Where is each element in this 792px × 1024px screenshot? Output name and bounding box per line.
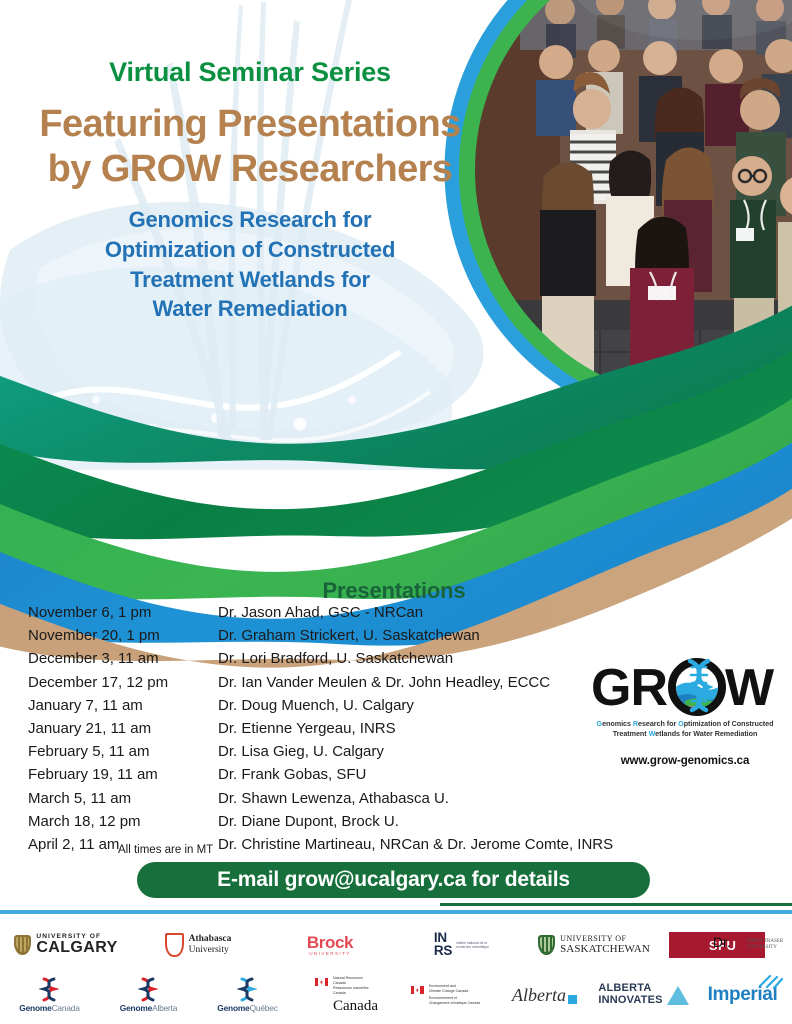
divider-blue — [0, 910, 792, 914]
presentation-row: November 20, 1 pmDr. Graham Strickert, U… — [28, 627, 668, 650]
calgary-shield-icon — [14, 935, 31, 955]
main-title: Featuring Presentations by GROW Research… — [0, 102, 500, 192]
sponsor-row-2: GenomeCanada GenomeAlberta GenomeQuébec — [0, 970, 792, 1020]
nrcan-canada-wordmark: Canada — [333, 999, 378, 1014]
project-subtitle: Genomics Research for Optimization of Co… — [0, 205, 500, 324]
inrs-line-2: RS — [434, 945, 452, 958]
presentation-speaker: Dr. Doug Muench, U. Calgary — [218, 697, 414, 714]
timezone-note: All times are in MT — [118, 844, 213, 856]
subtitle-line-3: Treatment Wetlands for — [0, 265, 500, 295]
presentation-speaker: Dr. Jason Ahad, GSC - NRCan — [218, 604, 423, 621]
grow-website-url[interactable]: www.grow-genomics.ca — [585, 755, 785, 767]
grow-tag-etlands: etlands for Water Remediation — [655, 729, 757, 738]
grow-tagline: Genomics Research for Optimization of Co… — [585, 719, 785, 739]
presentation-row: November 6, 1 pmDr. Jason Ahad, GSC - NR… — [28, 604, 668, 627]
presentation-row: March 18, 12 pmDr. Diane Dupont, Brock U… — [28, 813, 668, 836]
imperial-spark-icon — [757, 974, 783, 990]
alberta-innovates-line-2: INNOVATES — [598, 995, 662, 1007]
main-title-line-2: by GROW Researchers — [0, 147, 500, 192]
divider-green — [440, 903, 792, 906]
athabasca-line-1: Athabasca — [189, 934, 232, 945]
presentation-row: February 19, 11 amDr. Frank Gobas, SFU — [28, 766, 668, 789]
presentation-speaker: Dr. Lori Bradford, U. Saskatchewan — [218, 650, 453, 667]
presentation-speaker: Dr. Shawn Lewenza, Athabasca U. — [218, 790, 449, 807]
presentation-date: December 3, 11 am — [28, 650, 218, 667]
presentation-speaker: Dr. Ian Vander Meulen & Dr. John Headley… — [218, 674, 550, 691]
athabasca-line-2: University — [189, 945, 232, 956]
subtitle-line-1: Genomics Research for — [0, 205, 500, 235]
sponsor-government-of-alberta: Alberta — [495, 972, 594, 1018]
sfu-overlay-artifact: Dr. — [713, 934, 731, 950]
kicker-text: Virtual Seminar Series — [0, 58, 500, 88]
sponsor-environment-climate-change-canada: Environment and Climate Change Canada En… — [396, 972, 495, 1018]
grow-tagline-line-1: Genomics Research for Optimization of Co… — [585, 719, 785, 729]
genome-alberta-helix-icon — [138, 977, 158, 1002]
presentation-date: December 17, 12 pm — [28, 674, 218, 691]
presentation-speaker: Dr. Etienne Yergeau, INRS — [218, 720, 396, 737]
subtitle-line-2: Optimization of Constructed — [0, 235, 500, 265]
alberta-square-icon — [568, 995, 577, 1004]
main-title-line-1: Featuring Presentations — [0, 102, 500, 147]
header-block: Virtual Seminar Series Featuring Present… — [0, 58, 500, 324]
grow-logo: GR — [585, 655, 785, 767]
presentation-date: January 7, 11 am — [28, 697, 218, 714]
saskatchewan-shield-icon — [538, 935, 555, 955]
nrcan-line-4: Canada — [333, 991, 378, 996]
presentation-row: December 3, 11 amDr. Lori Bradford, U. S… — [28, 650, 668, 673]
subtitle-line-4: Water Remediation — [0, 294, 500, 324]
sponsor-athabasca-university: Athabasca University — [132, 922, 264, 968]
presentation-speaker: Dr. Frank Gobas, SFU — [218, 766, 366, 783]
grow-tag-enomics: enomics — [602, 719, 633, 728]
grow-tag-ptimization: ptimization of Constructed — [684, 719, 774, 728]
genome-canada-light: Canada — [52, 1003, 80, 1013]
athabasca-shield-icon — [165, 933, 184, 957]
sponsor-imperial: Imperial — [693, 972, 792, 1018]
sponsor-row-1: UNIVERSITY OF CALGARY Athabasca Universi… — [0, 922, 792, 968]
svg-text:W: W — [725, 659, 775, 717]
presentations-heading: Presentations — [0, 578, 792, 604]
brock-wordmark: Brock — [307, 934, 353, 951]
presentation-date: November 20, 1 pm — [28, 627, 218, 644]
sponsor-simon-fraser-university: SFU SIMON FRASER UNIVERSITY Dr. — [660, 922, 792, 968]
email-cta-banner[interactable]: E-mail grow@ucalgary.ca for details — [137, 862, 650, 898]
presentations-heading-label: Presentations — [323, 578, 466, 604]
presentation-row: February 5, 11 amDr. Lisa Gieg, U. Calga… — [28, 743, 668, 766]
genome-canada-helix-icon — [39, 977, 59, 1002]
alberta-innovates-triangle-icon — [667, 986, 689, 1005]
presentations-list: November 6, 1 pmDr. Jason Ahad, GSC - NR… — [28, 604, 668, 859]
genome-canada-bold: Genome — [19, 1003, 51, 1013]
grow-wordmark: GR — [585, 655, 785, 717]
sponsor-natural-resources-canada: Natural Resources Canada Ressources natu… — [297, 972, 396, 1018]
saskatchewan-line-1: UNIVERSITY OF — [560, 934, 650, 943]
presentation-date: February 5, 11 am — [28, 743, 218, 760]
brock-subtext: UNIVERSITY — [307, 952, 353, 957]
canada-flag-icon — [315, 978, 328, 986]
presentation-row: December 17, 12 pmDr. Ian Vander Meulen … — [28, 674, 668, 697]
sponsor-genome-canada: GenomeCanada — [0, 972, 99, 1018]
calgary-line-2: CALGARY — [36, 940, 117, 956]
presentation-speaker: Dr. Lisa Gieg, U. Calgary — [218, 743, 384, 760]
sponsor-university-of-saskatchewan: UNIVERSITY OF SASKATCHEWAN — [528, 922, 660, 968]
sponsor-genome-alberta: GenomeAlberta — [99, 972, 198, 1018]
presentation-date: March 5, 11 am — [28, 790, 218, 807]
presentation-date: March 18, 12 pm — [28, 813, 218, 830]
grow-wordmark-svg: GR — [585, 655, 785, 717]
grow-tagline-line-2: Treatment Wetlands for Water Remediation — [585, 729, 785, 739]
genome-alberta-light: Alberta — [152, 1003, 177, 1013]
svg-text:GR: GR — [591, 659, 667, 717]
presentation-date: February 19, 11 am — [28, 766, 218, 783]
presentation-speaker: Dr. Graham Strickert, U. Saskatchewan — [218, 627, 480, 644]
poster-canvas: Virtual Seminar Series Featuring Present… — [0, 0, 792, 1024]
alberta-wordmark: Alberta — [512, 986, 566, 1004]
presentation-speaker: Dr. Christine Martineau, NRCan & Dr. Jer… — [218, 836, 613, 853]
sponsor-alberta-innovates: ALBERTA INNOVATES — [594, 972, 693, 1018]
presentation-speaker: Dr. Diane Dupont, Brock U. — [218, 813, 399, 830]
group-photo — [470, 0, 792, 420]
sponsor-brock-university: Brock UNIVERSITY — [264, 922, 396, 968]
sponsor-genome-quebec: GenomeQuébec — [198, 972, 297, 1018]
email-cta-label: E-mail grow@ucalgary.ca for details — [217, 868, 570, 892]
inrs-subtext: institut national de la recherche scient… — [456, 941, 490, 950]
genome-quebec-helix-icon — [237, 977, 257, 1002]
sponsor-inrs: IN RS institut national de la recherche … — [396, 922, 528, 968]
sfu-line-3: UNIVERSITY — [747, 945, 783, 951]
genome-quebec-bold: Genome — [217, 1003, 249, 1013]
genome-alberta-bold: Genome — [120, 1003, 152, 1013]
presentation-date: January 21, 11 am — [28, 720, 218, 737]
genome-quebec-light: Québec — [250, 1003, 278, 1013]
presentation-row: January 21, 11 amDr. Etienne Yergeau, IN… — [28, 720, 668, 743]
presentation-row: January 7, 11 amDr. Doug Muench, U. Calg… — [28, 697, 668, 720]
canada-flag-icon-eccc — [411, 986, 424, 994]
presentation-date: November 6, 1 pm — [28, 604, 218, 621]
grow-tag-esearch: esearch for — [638, 719, 678, 728]
eccc-line-4: Changement climatique Canada — [429, 1001, 480, 1006]
sponsor-university-of-calgary: UNIVERSITY OF CALGARY — [0, 922, 132, 968]
presentation-row: March 5, 11 amDr. Shawn Lewenza, Athabas… — [28, 790, 668, 813]
grow-tag-treatment: Treatment — [613, 729, 649, 738]
eccc-line-2: Climate Change Canada — [429, 989, 480, 994]
saskatchewan-line-2: SASKATCHEWAN — [560, 943, 650, 956]
